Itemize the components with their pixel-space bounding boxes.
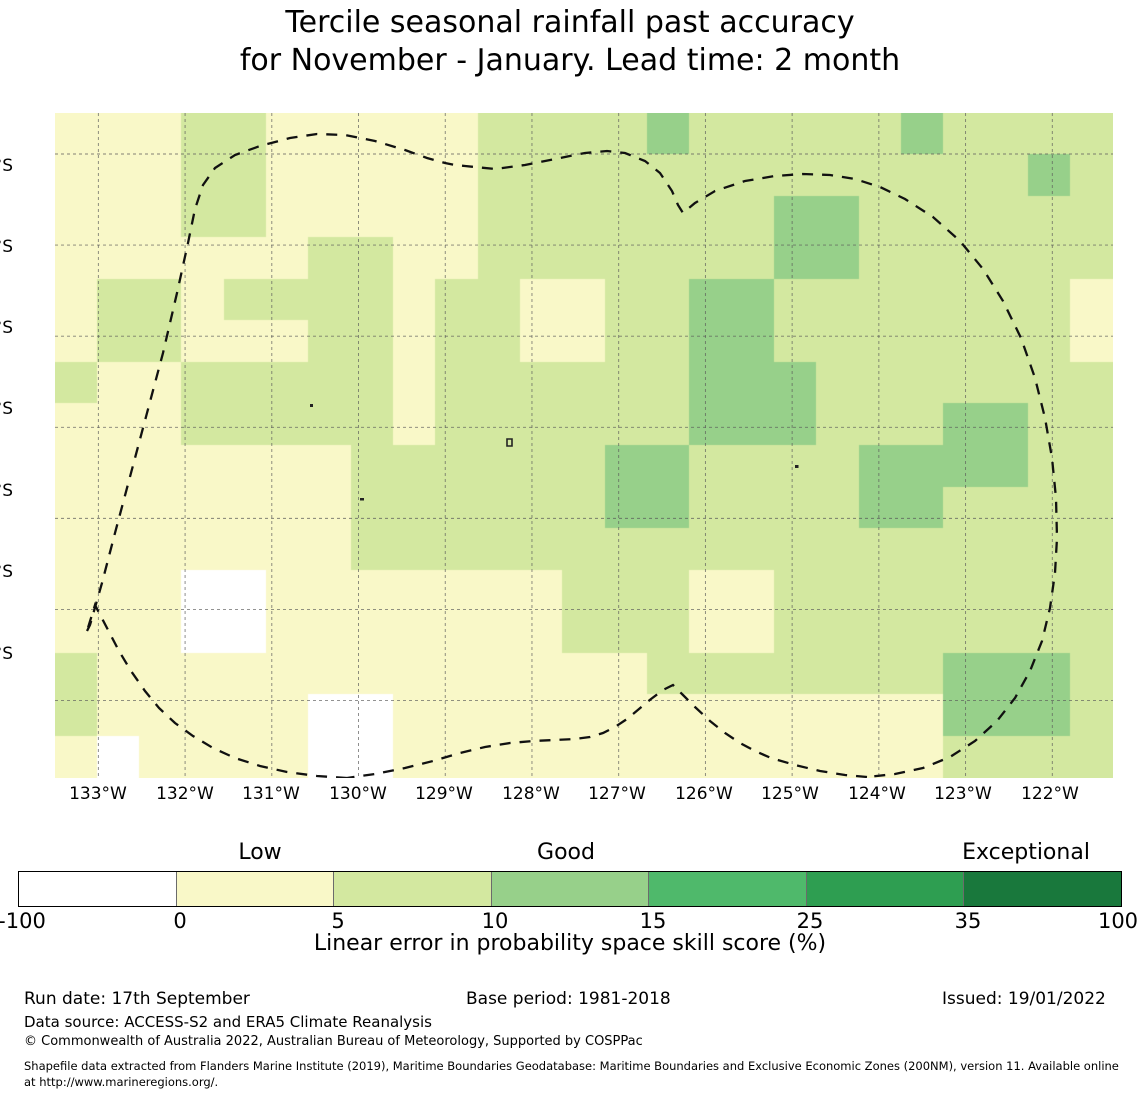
footer-run-date: Run date: 17th September: [24, 989, 250, 1009]
colorbar-segment-1: [176, 872, 334, 906]
y-tick-label: 22°S: [0, 237, 13, 257]
y-tick-label: 25°S: [0, 481, 13, 501]
colorbar-tick-label: 5: [258, 909, 418, 933]
colorbar-tick-label: 0: [100, 909, 260, 933]
page-title: Tercile seasonal rainfall past accuracy …: [0, 4, 1140, 80]
y-tick-label: 24°S: [0, 399, 13, 419]
y-tick-label: 26°S: [0, 562, 13, 582]
colorbar-segment-4: [648, 872, 806, 906]
x-tick-label: 122°W: [990, 784, 1110, 804]
eez-boundary-line: [55, 113, 1113, 778]
footer-base-period: Base period: 1981-2018: [466, 989, 671, 1009]
colorbar-tick-label: 15: [573, 909, 733, 933]
colorbar-tick-label: 35: [888, 909, 1048, 933]
y-tick-label: 23°S: [0, 318, 13, 338]
colorbar-qual-label-low: Low: [110, 840, 410, 865]
footer-shapefile-attribution: Shapefile data extracted from Flanders M…: [24, 1058, 1120, 1090]
colorbar-tick-label: 10: [415, 909, 575, 933]
colorbar-qual-label-exceptional: Exceptional: [876, 840, 1140, 865]
map-plot-area: [55, 113, 1113, 778]
colorbar-segment-3: [491, 872, 649, 906]
footer-data-source: Data source: ACCESS-S2 and ERA5 Climate …: [24, 1013, 432, 1031]
colorbar: [18, 871, 1122, 907]
colorbar-tick-label: 25: [730, 909, 890, 933]
y-tick-label: 21°S: [0, 156, 13, 176]
colorbar-segment-6: [963, 872, 1121, 906]
colorbar-segment-5: [806, 872, 964, 906]
colorbar-qual-label-good: Good: [416, 840, 716, 865]
colorbar-segment-0: [19, 872, 176, 906]
colorbar-segment-2: [333, 872, 491, 906]
footer-copyright: © Commonwealth of Australia 2022, Austra…: [24, 1034, 643, 1049]
colorbar-axis-label: Linear error in probability space skill …: [0, 931, 1140, 956]
footer-issued-date: Issued: 19/01/2022: [942, 989, 1106, 1009]
y-tick-label: 27°S: [0, 644, 13, 664]
colorbar-tick-label: 100: [1038, 909, 1140, 933]
footer-row-primary: Run date: 17th September Base period: 19…: [0, 989, 1140, 1011]
chart-page: Tercile seasonal rainfall past accuracy …: [0, 0, 1140, 1095]
colorbar-tick-label: -100: [0, 909, 102, 933]
